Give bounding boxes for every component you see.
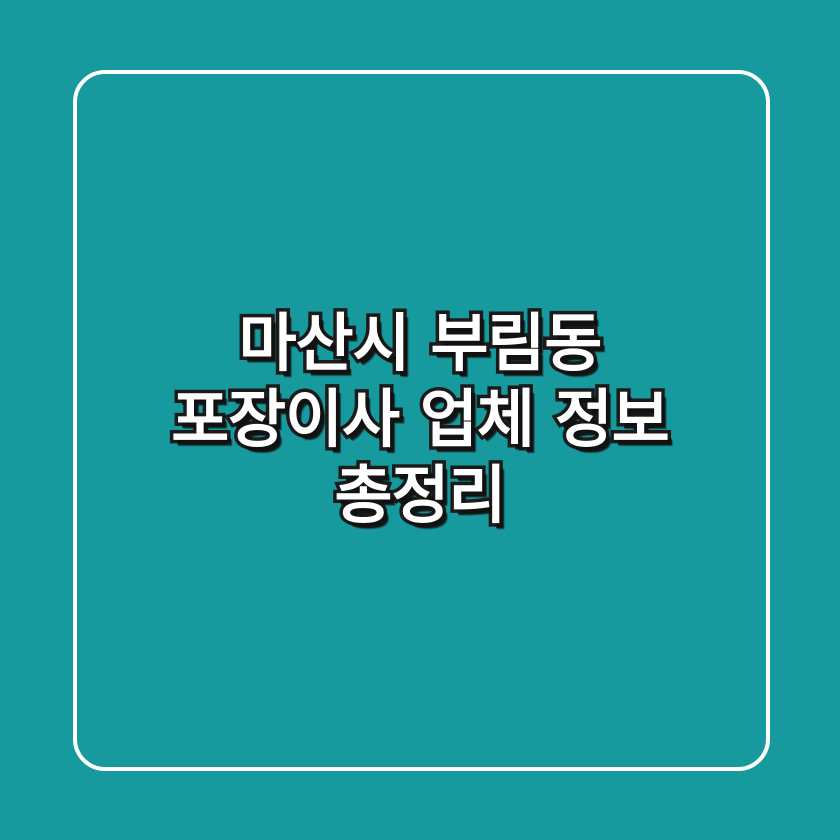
thumbnail-card: 마산시 부림동 포장이사 업체 정보 총정리 (0, 0, 840, 840)
title-line-1: 마산시 부림동 (239, 306, 602, 382)
title-line-3: 총정리 (335, 458, 506, 534)
title-block: 마산시 부림동 포장이사 업체 정보 총정리 (0, 0, 840, 840)
title-line-2: 포장이사 업체 정보 (171, 382, 669, 458)
